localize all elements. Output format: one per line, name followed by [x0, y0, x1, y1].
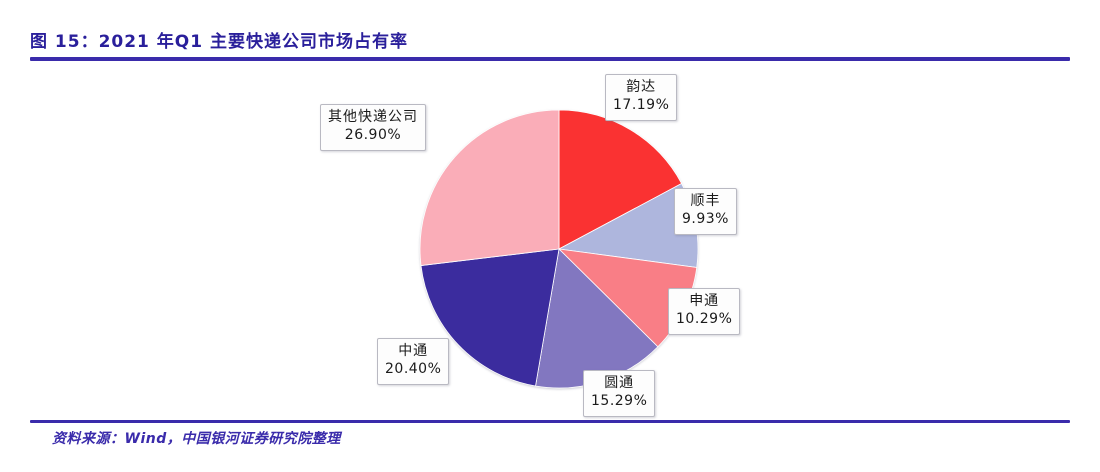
- callout-yunda-label: 韵达: [613, 79, 669, 97]
- callout-zhongtong: 中通 20.40%: [377, 338, 449, 385]
- pie-chart-svg: [418, 108, 700, 390]
- callout-other-companies-value: 26.90%: [328, 127, 418, 145]
- source-note: 资料来源：Wind，中国银河证券研究院整理: [52, 428, 341, 448]
- callout-yuantong-label: 圆通: [591, 375, 647, 393]
- pie-slice: [420, 110, 559, 266]
- callout-shunfeng-value: 9.93%: [682, 211, 729, 229]
- callout-yunda: 韵达 17.19%: [605, 74, 677, 121]
- callout-zhongtong-label: 中通: [385, 343, 441, 361]
- callout-yuantong: 圆通 15.29%: [583, 370, 655, 417]
- footer-divider-rule: [30, 420, 1070, 423]
- figure-panel: 图 15：2021 年Q1 主要快递公司市场占有率 韵达 17.19% 顺丰 9…: [0, 0, 1100, 472]
- callout-other-companies-label: 其他快递公司: [328, 109, 418, 127]
- pie-chart: [418, 108, 700, 390]
- callout-shentong-value: 10.29%: [676, 311, 732, 329]
- callout-shentong-label: 申通: [676, 293, 732, 311]
- callout-other-companies: 其他快递公司 26.90%: [320, 104, 426, 151]
- callout-yuantong-value: 15.29%: [591, 393, 647, 411]
- callout-shunfeng: 顺丰 9.93%: [674, 188, 737, 235]
- callout-zhongtong-value: 20.40%: [385, 361, 441, 379]
- page-title: 图 15：2021 年Q1 主要快递公司市场占有率: [30, 27, 408, 52]
- callout-shentong: 申通 10.29%: [668, 288, 740, 335]
- title-divider-rule: [30, 57, 1070, 61]
- callout-yunda-value: 17.19%: [613, 97, 669, 115]
- callout-shunfeng-label: 顺丰: [682, 193, 729, 211]
